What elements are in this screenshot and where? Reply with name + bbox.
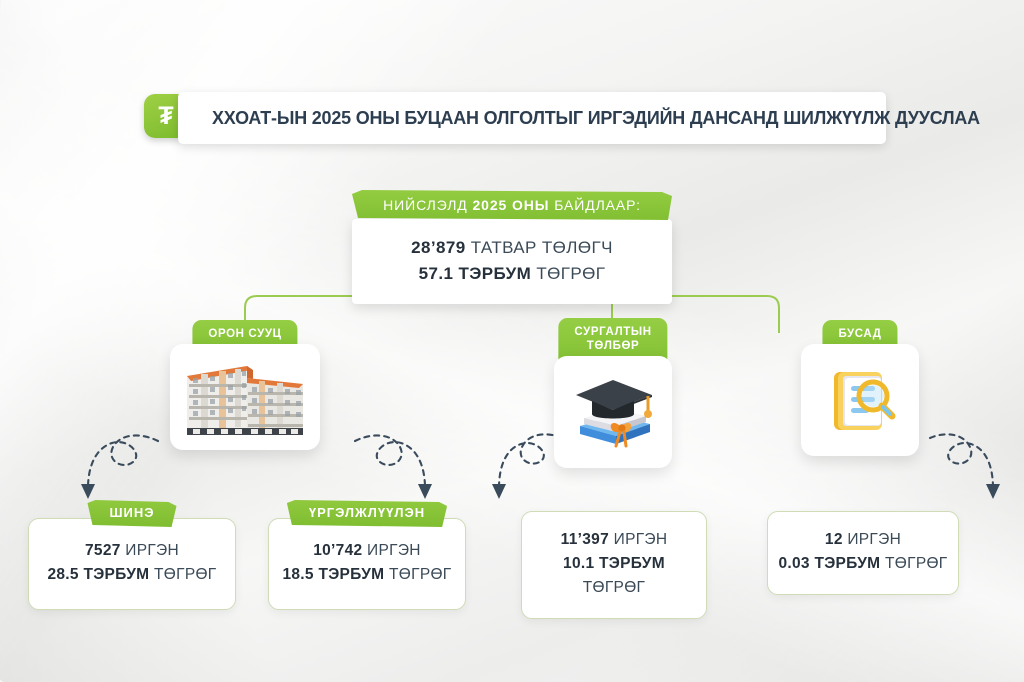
result-values-tuition: 11’397 ИРГЭН 10.1 ТЭРБУМ ТӨГРӨГ bbox=[521, 511, 707, 619]
result-amount-label: ТӨГРӨГ bbox=[583, 579, 646, 596]
result-ribbon-new: ШИНЭ bbox=[87, 500, 176, 527]
result-line-1: 12 ИРГЭН bbox=[776, 528, 950, 552]
graduation-cap-books-icon bbox=[554, 356, 672, 468]
result-amount-label: ТӨГРӨГ bbox=[149, 566, 216, 583]
category-housing: ОРОН СУУЦ bbox=[170, 320, 320, 460]
result-line-2: 10.1 ТЭРБУМ ТӨГРӨГ bbox=[530, 552, 698, 600]
apartment-building-photo bbox=[170, 344, 320, 450]
graduation-cap-icon bbox=[570, 372, 656, 452]
result-amount-value: 0.03 ТЭРБУМ bbox=[778, 555, 880, 572]
result-citizen-label: ИРГЭН bbox=[121, 542, 179, 559]
result-line-2: 28.5 ТЭРБУМ ТӨГРӨГ bbox=[37, 563, 227, 587]
result-line-1: 10’742 ИРГЭН bbox=[277, 539, 457, 563]
result-ribbon-continued: ҮРГЭЛЖЛҮҮЛЭН bbox=[287, 500, 447, 527]
result-citizen-count: 12 bbox=[825, 531, 843, 548]
summary-ribbon-prefix: НИЙСЛЭЛД bbox=[383, 197, 472, 213]
result-values-other: 12 ИРГЭН 0.03 ТЭРБУМ ТӨГРӨГ bbox=[767, 511, 959, 595]
summary-amount-value: 57.1 ТЭРБУМ bbox=[419, 264, 532, 283]
summary-ribbon-highlight: 2025 ОНЫ bbox=[472, 197, 549, 213]
result-values-new: 7527 ИРГЭН 28.5 ТЭРБУМ ТӨГРӨГ bbox=[28, 518, 236, 610]
result-amount-value: 28.5 ТЭРБУМ bbox=[47, 566, 149, 583]
result-citizen-count: 10’742 bbox=[313, 542, 362, 559]
summary-line-1: 28’879 ТАТВАР ТӨЛӨГЧ bbox=[362, 235, 662, 261]
result-amount-value: 10.1 ТЭРБУМ bbox=[563, 555, 665, 572]
result-line-1: 11’397 ИРГЭН bbox=[530, 528, 698, 552]
summary-ribbon: НИЙСЛЭЛД 2025 ОНЫ БАЙДЛААР: bbox=[352, 190, 672, 220]
result-line-2: 0.03 ТЭРБУМ ТӨГРӨГ bbox=[776, 552, 950, 576]
result-amount-label: ТӨГРӨГ bbox=[880, 555, 947, 572]
result-line-2: 18.5 ТЭРБУМ ТӨГРӨГ bbox=[277, 563, 457, 587]
result-line-1: 7527 ИРГЭН bbox=[37, 539, 227, 563]
summary-taxpayer-label: ТАТВАР ТӨЛӨГЧ bbox=[466, 238, 613, 257]
result-citizen-label: ИРГЭН bbox=[362, 542, 420, 559]
tugrik-glyph: ₮ bbox=[158, 104, 173, 129]
category-tuition: СУРГАЛТЫН ТӨЛБӨР bbox=[553, 318, 673, 458]
category-tuition-label-line2: ТӨЛБӨР bbox=[587, 340, 640, 352]
result-values-continued: 10’742 ИРГЭН 18.5 ТЭРБУМ ТӨГРӨГ bbox=[268, 518, 466, 610]
result-citizen-label: ИРГЭН bbox=[843, 531, 901, 548]
document-magnifier-icon bbox=[801, 344, 919, 456]
infographic-stage: ₮ ХХОАТ-ЫН 2025 ОНЫ БУЦААН ОЛГОЛТЫГ ИРГЭ… bbox=[0, 0, 1024, 682]
summary-taxpayer-count: 28’879 bbox=[411, 238, 465, 257]
summary-values: 28’879 ТАТВАР ТӨЛӨГЧ 57.1 ТЭРБУМ ТӨГРӨГ bbox=[352, 219, 672, 304]
result-citizen-count: 7527 bbox=[85, 542, 121, 559]
header-title-bar: ХХОАТ-ЫН 2025 ОНЫ БУЦААН ОЛГОЛТЫГ ИРГЭДИ… bbox=[178, 92, 886, 144]
result-citizen-count: 11’397 bbox=[561, 531, 609, 548]
document-search-icon bbox=[820, 360, 900, 440]
page-title: ХХОАТ-ЫН 2025 ОНЫ БУЦААН ОЛГОЛТЫГ ИРГЭДИ… bbox=[212, 107, 980, 129]
category-tuition-label-line1: СУРГАЛТЫН bbox=[574, 326, 651, 338]
category-other: БУСАД bbox=[800, 320, 920, 460]
summary-amount-label: ТӨГРӨГ bbox=[531, 264, 605, 283]
result-citizen-label: ИРГЭН bbox=[609, 531, 667, 548]
page-header: ₮ ХХОАТ-ЫН 2025 ОНЫ БУЦААН ОЛГОЛТЫГ ИРГЭ… bbox=[144, 92, 886, 144]
summary-card: НИЙСЛЭЛД 2025 ОНЫ БАЙДЛААР: 28’879 ТАТВА… bbox=[352, 190, 672, 304]
summary-line-2: 57.1 ТЭРБУМ ТӨГРӨГ bbox=[362, 261, 662, 287]
result-amount-label: ТӨГРӨГ bbox=[384, 566, 451, 583]
result-amount-value: 18.5 ТЭРБУМ bbox=[282, 566, 384, 583]
apartment-building-icon bbox=[179, 354, 311, 440]
summary-ribbon-suffix: БАЙДЛААР: bbox=[549, 197, 640, 213]
